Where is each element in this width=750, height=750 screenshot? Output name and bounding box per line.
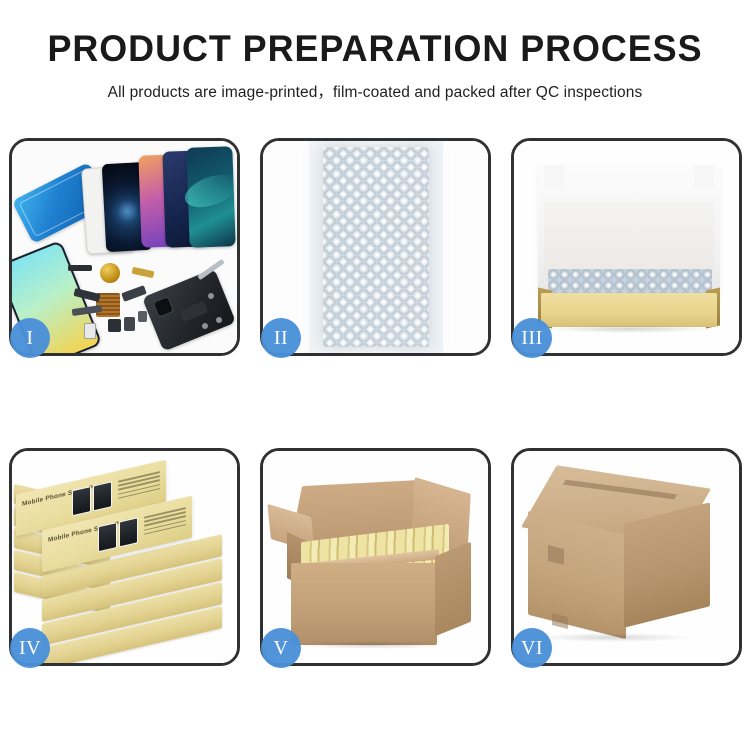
step-badge-3: III [512,318,552,358]
phone-teal-wave [186,146,235,248]
carton-drop-shadow [297,641,447,649]
mailer-drop-shadow [544,325,714,333]
step-5-image [263,451,488,663]
bubble-wrapped-item [323,147,429,347]
retail-box-stack-illustration: Mobile Phone Spare Parts Mobile Phone Sp… [12,451,237,663]
carton-front-panel [291,563,437,645]
process-step-card-3[interactable]: III [511,138,742,356]
step-6-image [514,451,739,663]
box-print-phone-thumb-1 [72,486,91,516]
step-1-image [12,141,237,353]
box-print-phone-thumb-3 [98,522,117,552]
process-step-card-5[interactable]: V [260,448,491,666]
page-subtitle: All products are image-printed，film-coat… [0,80,750,102]
box-print-phone-thumb-4 [119,517,138,547]
box-print-text-lines-back [118,471,160,503]
process-step-card-2[interactable]: II [260,138,491,356]
part-module-4 [138,311,147,322]
step-badge-1: I [10,318,50,358]
open-carton-illustration [263,451,488,663]
bubble-grid-row-b [323,147,429,347]
sealed-carton-right-panel [624,502,710,627]
step-3-image [514,141,739,353]
part-connector-bar [68,265,92,271]
mailer-front-panel [541,293,717,327]
step-badge-5: V [261,628,301,668]
process-step-card-4[interactable]: Mobile Phone Spare Parts Mobile Phone Sp… [9,448,240,666]
sealed-carton-drop-shadow [536,633,692,642]
step-badge-4: IV [10,628,50,668]
sealed-carton-illustration [514,451,739,663]
part-module-3 [84,323,96,339]
bubble-wrap-illustration [263,141,488,353]
part-gold-disc [100,263,120,283]
box-print-text-lines-front [144,507,186,539]
process-step-card-6[interactable]: VI [511,448,742,666]
process-step-grid: I II III [9,138,741,666]
process-step-card-1[interactable]: I [9,138,240,356]
carton-side-panel [435,542,471,637]
phones-and-parts-illustration [12,141,237,353]
mailer-box-illustration [514,141,739,353]
mailer-foam-liner [544,201,714,275]
page-header: PRODUCT PREPARATION PROCESS All products… [0,0,750,102]
part-screw-3 [202,323,208,329]
step-2-image [263,141,488,353]
step-badge-6: VI [512,628,552,668]
page-title: PRODUCT PREPARATION PROCESS [11,30,739,67]
box-print-phone-thumb-2 [93,481,112,511]
part-module-2 [124,317,135,331]
step-4-image: Mobile Phone Spare Parts Mobile Phone Sp… [12,451,237,663]
part-module-1 [108,319,121,332]
part-screw-2 [216,317,222,323]
step-badge-2: II [261,318,301,358]
part-flex-cable-4 [132,267,155,278]
phone-rear-housing [142,269,236,352]
part-screw-1 [208,293,214,299]
